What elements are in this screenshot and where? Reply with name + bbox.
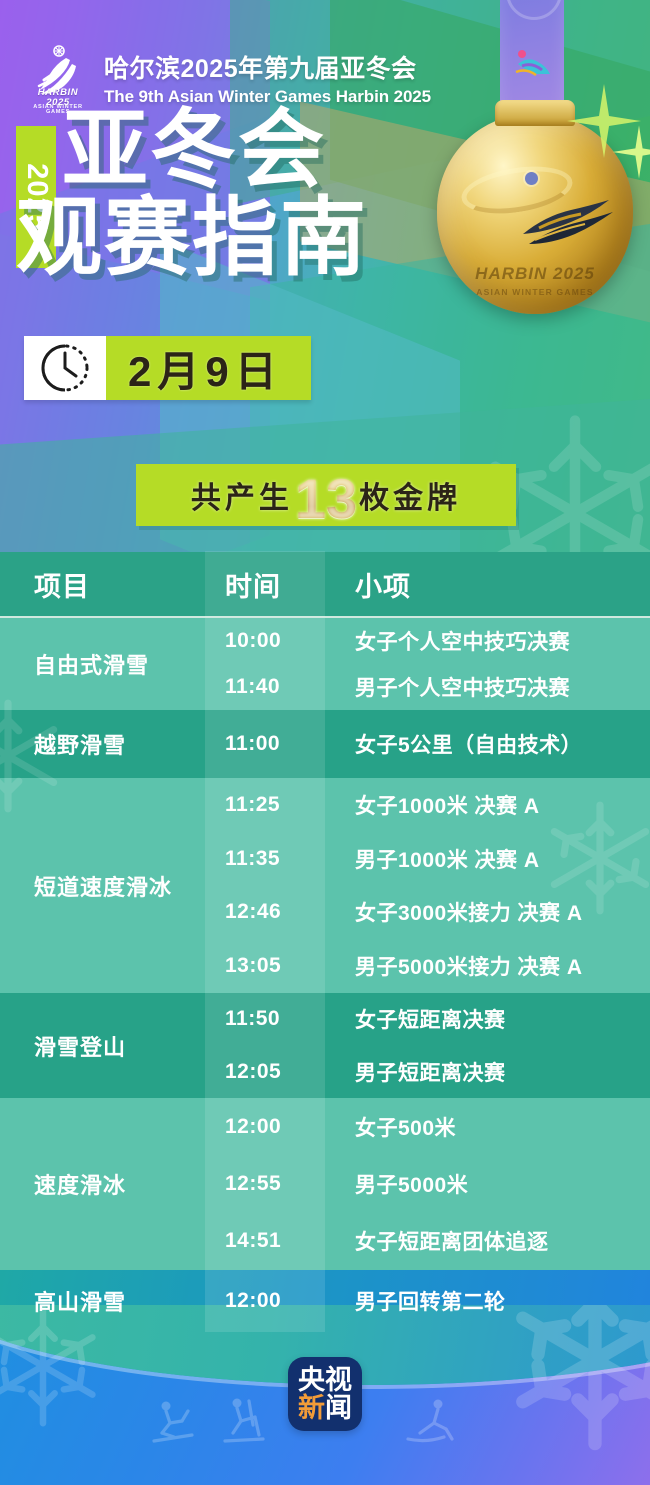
ribbon-mascot-icon bbox=[500, 48, 564, 82]
sport-name: 越野滑雪 bbox=[34, 728, 126, 760]
table-header-time: 时间 bbox=[205, 551, 325, 617]
cctv-logo-char-xin: 新 bbox=[298, 1393, 325, 1423]
table-row: 短道速度滑冰 11:25 女子1000米 决赛 A 11:35 男子1000米 … bbox=[0, 778, 650, 993]
main-headline: 亚冬会 观赛指南 bbox=[62, 110, 462, 279]
sport-name: 高山滑雪 bbox=[34, 1285, 126, 1317]
date-badge: 2月9日 bbox=[24, 336, 311, 400]
table-cell-event: 男子5000米接力 决赛 A bbox=[325, 951, 650, 981]
table-cell-time: 12:00 bbox=[205, 1098, 325, 1155]
table-subrow: 11:50 女子短距离决赛 bbox=[205, 993, 650, 1046]
table-cell-time: 11:00 bbox=[205, 710, 325, 778]
headline-line1: 亚冬会 bbox=[62, 110, 462, 192]
table-cell-sport: 速度滑冰 bbox=[0, 1098, 205, 1270]
table-cell-time: 12:55 bbox=[205, 1155, 325, 1212]
headline-line2: 观赛指南 bbox=[16, 198, 462, 280]
footer: 央视 新闻 bbox=[0, 1305, 650, 1485]
table-subrow: 11:35 男子1000米 决赛 A bbox=[205, 832, 650, 886]
cctv-news-logo: 央视 新闻 bbox=[288, 1357, 362, 1431]
table-cell-event: 女子1000米 决赛 A bbox=[325, 790, 650, 820]
table-subrows: 11:00 女子5公里（自由技术） bbox=[205, 710, 650, 778]
table-cell-sport: 高山滑雪 bbox=[0, 1270, 205, 1332]
table-cell-event: 女子短距离团体追逐 bbox=[325, 1226, 650, 1256]
table-cell-event: 男子个人空中技巧决赛 bbox=[325, 672, 650, 702]
skater-pictogram-icon bbox=[400, 1395, 466, 1453]
table-subrow: 11:25 女子1000米 决赛 A bbox=[205, 778, 650, 832]
table-subrow: 12:46 女子3000米接力 决赛 A bbox=[205, 886, 650, 940]
ribbon-pattern bbox=[506, 0, 562, 20]
table-subrow: 12:55 男子5000米 bbox=[205, 1155, 650, 1212]
table-subrow: 12:00 女子500米 bbox=[205, 1098, 650, 1155]
table-cell-sport: 越野滑雪 bbox=[0, 710, 205, 778]
table-cell-time: 12:00 bbox=[205, 1270, 325, 1332]
table-cell-time: 14:51 bbox=[205, 1213, 325, 1270]
table-subrows: 11:25 女子1000米 决赛 A 11:35 男子1000米 决赛 A 12… bbox=[205, 778, 650, 993]
cctv-logo-char-wen: 闻 bbox=[325, 1393, 352, 1423]
table-header-sport: 项目 bbox=[0, 565, 205, 604]
table-cell-event: 男子5000米 bbox=[325, 1169, 650, 1199]
snowflake-icon bbox=[500, 1305, 650, 1455]
poster-root: HARBIN 2025 HARBIN 2025 ASIAN WINTER GAM… bbox=[0, 0, 650, 1485]
clock-icon bbox=[24, 336, 106, 400]
gold-count-prefix: 共产生 bbox=[191, 473, 293, 517]
sport-name: 滑雪登山 bbox=[34, 1030, 126, 1062]
table-subrow: 11:40 男子个人空中技巧决赛 bbox=[205, 664, 650, 710]
table-cell-time: 10:00 bbox=[205, 618, 325, 664]
gold-count-suffix: 枚金牌 bbox=[359, 473, 461, 517]
table-subrow: 12:05 男子短距离决赛 bbox=[205, 1046, 650, 1099]
table-cell-time: 11:40 bbox=[205, 664, 325, 710]
medal-face-line1: HARBIN 2025 bbox=[437, 264, 633, 284]
table-subrow: 11:00 女子5公里（自由技术） bbox=[205, 710, 650, 778]
medal-face-line2: ASIAN WINTER GAMES bbox=[437, 287, 633, 297]
table-subrow: 13:05 男子5000米接力 决赛 A bbox=[205, 939, 650, 993]
brand-titles: 哈尔滨2025年第九届亚冬会 The 9th Asian Winter Game… bbox=[104, 55, 431, 108]
table-header-event: 小项 bbox=[325, 565, 650, 604]
table-cell-sport: 自由式滑雪 bbox=[0, 618, 205, 710]
skier-pictogram-icon bbox=[215, 1395, 285, 1453]
table-header-event-label: 小项 bbox=[355, 572, 411, 602]
table-cell-sport: 短道速度滑冰 bbox=[0, 778, 205, 993]
table-subrow: 14:51 女子短距离团体追逐 bbox=[205, 1213, 650, 1270]
medal-sun-motif bbox=[525, 172, 538, 185]
table-cell-event: 女子个人空中技巧决赛 bbox=[325, 626, 650, 656]
table-cell-event: 女子3000米接力 决赛 A bbox=[325, 897, 650, 927]
table-subrow: 10:00 女子个人空中技巧决赛 bbox=[205, 618, 650, 664]
table-cell-time: 11:35 bbox=[205, 832, 325, 886]
brand-title-cn: 哈尔滨2025年第九届亚冬会 bbox=[104, 55, 431, 85]
medal-loop bbox=[495, 100, 575, 126]
table-row: 自由式滑雪 10:00 女子个人空中技巧决赛 11:40 男子个人空中技巧决赛 bbox=[0, 618, 650, 710]
medal-face: HARBIN 2025 ASIAN WINTER GAMES bbox=[437, 114, 633, 314]
table-cell-sport: 滑雪登山 bbox=[0, 993, 205, 1098]
table-cell-event: 男子1000米 决赛 A bbox=[325, 844, 650, 874]
table-cell-time: 12:46 bbox=[205, 886, 325, 940]
table-row: 越野滑雪 11:00 女子5公里（自由技术） bbox=[0, 710, 650, 778]
table-header-time-label: 时间 bbox=[225, 565, 281, 604]
schedule-table: 项目 时间 小项 自由式滑雪 10:00 女子个人空中技巧决赛 bbox=[0, 552, 650, 1332]
table-header-row: 项目 时间 小项 bbox=[0, 552, 650, 618]
gold-count-number: 13 bbox=[295, 466, 357, 531]
table-subrows: 11:50 女子短距离决赛 12:05 男子短距离决赛 bbox=[205, 993, 650, 1098]
table-header-sport-label: 项目 bbox=[34, 572, 90, 602]
cctv-logo-line1: 央视 bbox=[298, 1366, 352, 1394]
sport-name: 自由式滑雪 bbox=[34, 648, 149, 680]
sport-name: 短道速度滑冰 bbox=[34, 870, 172, 902]
table-row: 速度滑冰 12:00 女子500米 12:55 男子5000米 bbox=[0, 1098, 650, 1270]
table-cell-time: 11:50 bbox=[205, 993, 325, 1046]
table-cell-time: 11:25 bbox=[205, 778, 325, 832]
gold-medal-count-banner: 共产生 13 枚金牌 bbox=[136, 464, 516, 526]
sport-name: 速度滑冰 bbox=[34, 1168, 126, 1200]
table-cell-event: 女子500米 bbox=[325, 1112, 650, 1142]
table-subrows: 12:00 女子500米 12:55 男子5000米 14:51 女子短距离团体… bbox=[205, 1098, 650, 1270]
winter-games-logo-icon bbox=[519, 194, 615, 252]
table-cell-time: 12:05 bbox=[205, 1046, 325, 1099]
table-cell-event: 女子短距离决赛 bbox=[325, 1004, 650, 1034]
cctv-logo-line2: 新闻 bbox=[298, 1394, 352, 1422]
table-cell-event: 男子短距离决赛 bbox=[325, 1057, 650, 1087]
skier-pictogram-icon bbox=[148, 1397, 214, 1453]
table-subrows: 10:00 女子个人空中技巧决赛 11:40 男子个人空中技巧决赛 bbox=[205, 618, 650, 710]
table-row: 滑雪登山 11:50 女子短距离决赛 12:05 男子短距离决赛 bbox=[0, 993, 650, 1098]
table-cell-event: 男子回转第二轮 bbox=[325, 1286, 650, 1316]
table-cell-time: 13:05 bbox=[205, 939, 325, 993]
table-cell-event: 女子5公里（自由技术） bbox=[325, 729, 650, 759]
date-text: 2月9日 bbox=[106, 336, 311, 400]
